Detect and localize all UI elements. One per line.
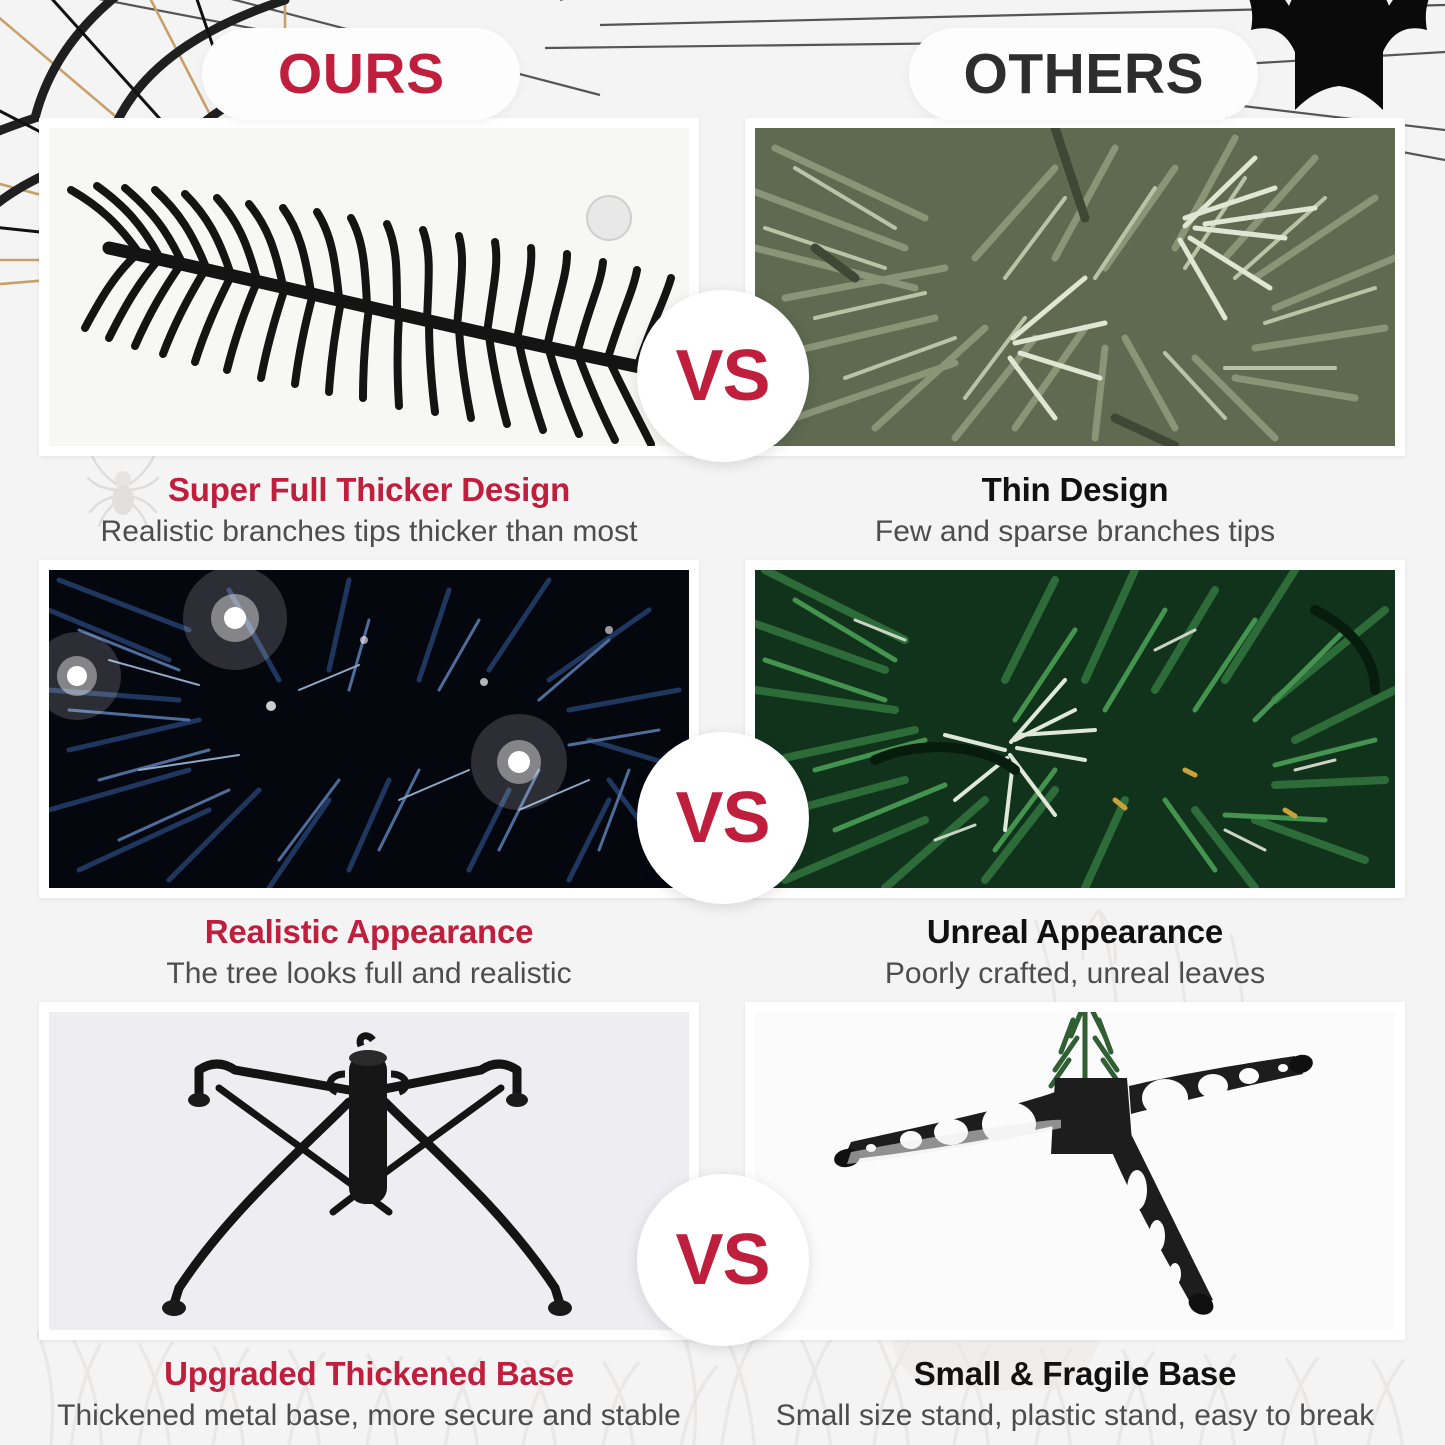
ours-title: Realistic Appearance bbox=[29, 914, 709, 951]
photo-frame bbox=[745, 560, 1405, 898]
header-cell-ours: OURS bbox=[0, 28, 723, 124]
others-product-image bbox=[755, 570, 1395, 888]
ours-product-image bbox=[49, 128, 689, 446]
ours-caption: Realistic Appearance The tree looks full… bbox=[29, 914, 709, 992]
vs-label: VS bbox=[675, 782, 769, 854]
others-column: Unreal Appearance Poorly crafted, unreal… bbox=[722, 560, 1444, 992]
ours-subtitle: Realistic branches tips thicker than mos… bbox=[29, 514, 709, 550]
header-row: OURS OTHERS bbox=[0, 28, 1445, 124]
vs-label: VS bbox=[675, 340, 769, 412]
ours-title: Upgraded Thickened Base bbox=[29, 1356, 709, 1393]
comparison-infographic: OURS OTHERS bbox=[0, 0, 1445, 1445]
photo-frame bbox=[745, 1002, 1405, 1340]
photo-frame bbox=[39, 1002, 699, 1340]
ours-column: Realistic Appearance The tree looks full… bbox=[0, 560, 722, 992]
others-caption: Small & Fragile Base Small size stand, p… bbox=[735, 1356, 1415, 1434]
others-subtitle: Poorly crafted, unreal leaves bbox=[735, 956, 1415, 992]
others-title: Unreal Appearance bbox=[735, 914, 1415, 951]
ours-title: Super Full Thicker Design bbox=[29, 472, 709, 509]
ours-product-image bbox=[49, 1012, 689, 1330]
ours-column: Super Full Thicker Design Realistic bran… bbox=[0, 118, 722, 550]
comparison-row: Super Full Thicker Design Realistic bran… bbox=[0, 118, 1445, 560]
others-subtitle: Small size stand, plastic stand, easy to… bbox=[735, 1398, 1415, 1434]
others-pill: OTHERS bbox=[909, 28, 1258, 120]
ours-product-image bbox=[49, 570, 689, 888]
others-label: OTHERS bbox=[963, 46, 1204, 103]
ours-label: OURS bbox=[278, 46, 445, 103]
photo-frame bbox=[39, 118, 699, 456]
others-title: Small & Fragile Base bbox=[735, 1356, 1415, 1393]
vs-badge: VS bbox=[637, 732, 809, 904]
comparison-row: Realistic Appearance The tree looks full… bbox=[0, 560, 1445, 1002]
ours-subtitle: Thickened metal base, more secure and st… bbox=[29, 1398, 709, 1434]
others-column: Thin Design Few and sparse branches tips bbox=[722, 118, 1444, 550]
vs-badge: VS bbox=[637, 1174, 809, 1346]
header-cell-others: OTHERS bbox=[723, 28, 1445, 124]
ours-pill: OURS bbox=[202, 28, 520, 120]
others-column: Small & Fragile Base Small size stand, p… bbox=[722, 1002, 1444, 1434]
others-product-image bbox=[755, 1012, 1395, 1330]
vs-label: VS bbox=[675, 1224, 769, 1296]
others-caption: Thin Design Few and sparse branches tips bbox=[735, 472, 1415, 550]
comparison-row: Upgraded Thickened Base Thickened metal … bbox=[0, 1002, 1445, 1444]
comparison-rows: Super Full Thicker Design Realistic bran… bbox=[0, 118, 1445, 1444]
ours-subtitle: The tree looks full and realistic bbox=[29, 956, 709, 992]
others-title: Thin Design bbox=[735, 472, 1415, 509]
others-caption: Unreal Appearance Poorly crafted, unreal… bbox=[735, 914, 1415, 992]
others-product-image bbox=[755, 128, 1395, 446]
vs-badge: VS bbox=[637, 290, 809, 462]
photo-frame bbox=[745, 118, 1405, 456]
others-subtitle: Few and sparse branches tips bbox=[735, 514, 1415, 550]
ours-caption: Upgraded Thickened Base Thickened metal … bbox=[29, 1356, 709, 1434]
photo-frame bbox=[39, 560, 699, 898]
ours-caption: Super Full Thicker Design Realistic bran… bbox=[29, 472, 709, 550]
ours-column: Upgraded Thickened Base Thickened metal … bbox=[0, 1002, 722, 1434]
